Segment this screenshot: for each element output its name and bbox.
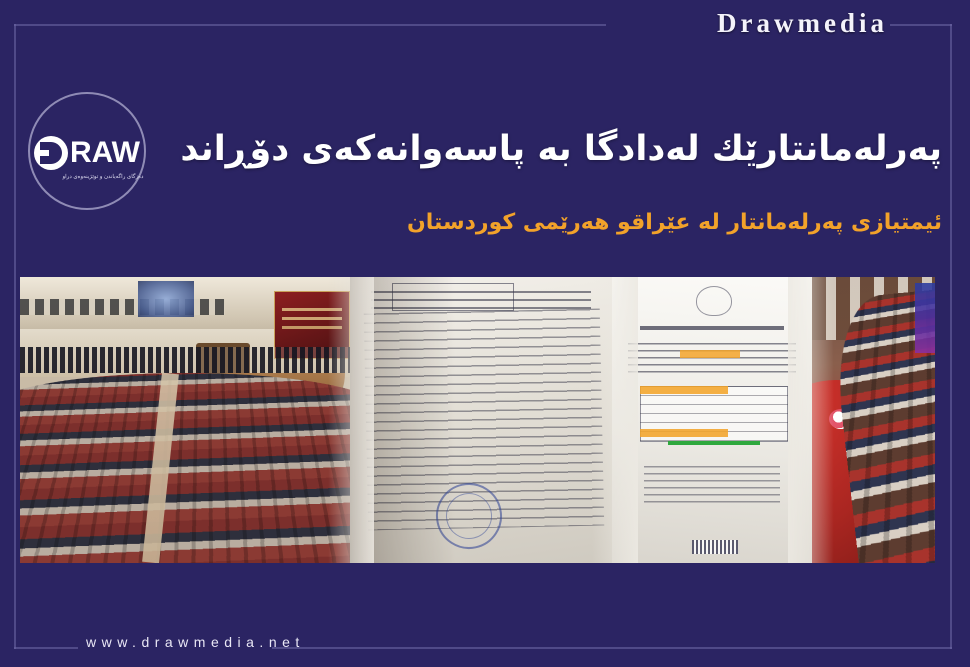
- document-b-emblem-icon: [696, 286, 732, 316]
- document-b-title-line: [640, 326, 784, 330]
- frame-line-top-right: [890, 24, 952, 26]
- logo-inner: RAW: [24, 132, 150, 174]
- photo-strip: [20, 277, 935, 563]
- frame-line-top-left: [14, 24, 606, 26]
- frame-line-bottom-right: [272, 647, 952, 649]
- photo-iraqi-parliament: [20, 277, 350, 563]
- news-poster: Drawmedia RAW دەزگای راگەیاندن و توێژینە…: [0, 0, 970, 667]
- page-subtitle: ئیمتیازی پەرلەمانتار لە عێراقو هەرێمی کو…: [150, 208, 942, 239]
- logo-raw-text: RAW: [70, 138, 140, 168]
- kurdistan-flag: [915, 283, 935, 353]
- document-b-highlight-primary: [680, 350, 740, 358]
- photo-court-document-left: [350, 277, 612, 563]
- brand-wordmark: Drawmedia: [717, 8, 888, 39]
- document-b-footer-text: [644, 466, 780, 506]
- photo-kurdistan-parliament: [812, 277, 935, 563]
- document-b-paragraph: [628, 343, 796, 377]
- document-b-table-highlight-bottom: [640, 429, 728, 437]
- document-b-barcode: [692, 540, 738, 554]
- iraq-projection-screen: [138, 281, 194, 317]
- document-b-green-underline: [668, 441, 760, 445]
- iraq-standing-row: [20, 347, 350, 373]
- logo-tagline: دەزگای راگەیاندن و توێژینەوەی دراو: [40, 174, 166, 180]
- logo-d-mark-icon: [34, 136, 68, 170]
- footer-website-url: www.drawmedia.net: [86, 634, 305, 650]
- document-b-table-highlight-top: [640, 386, 728, 394]
- iraq-seating-rows: [20, 373, 350, 563]
- frame-line-left: [14, 24, 16, 649]
- draw-logo: RAW دەزگای راگەیاندن و توێژینەوەی دراو: [24, 88, 150, 214]
- frame-line-bottom-left: [14, 647, 78, 649]
- frame-line-right: [950, 24, 952, 649]
- document-a-blend-gradient: [350, 277, 455, 563]
- page-title: پەرلەمانتارێك لەدادگا بە پاسەوانەکەی دۆڕ…: [150, 126, 942, 173]
- photo-court-document-right: [612, 277, 812, 563]
